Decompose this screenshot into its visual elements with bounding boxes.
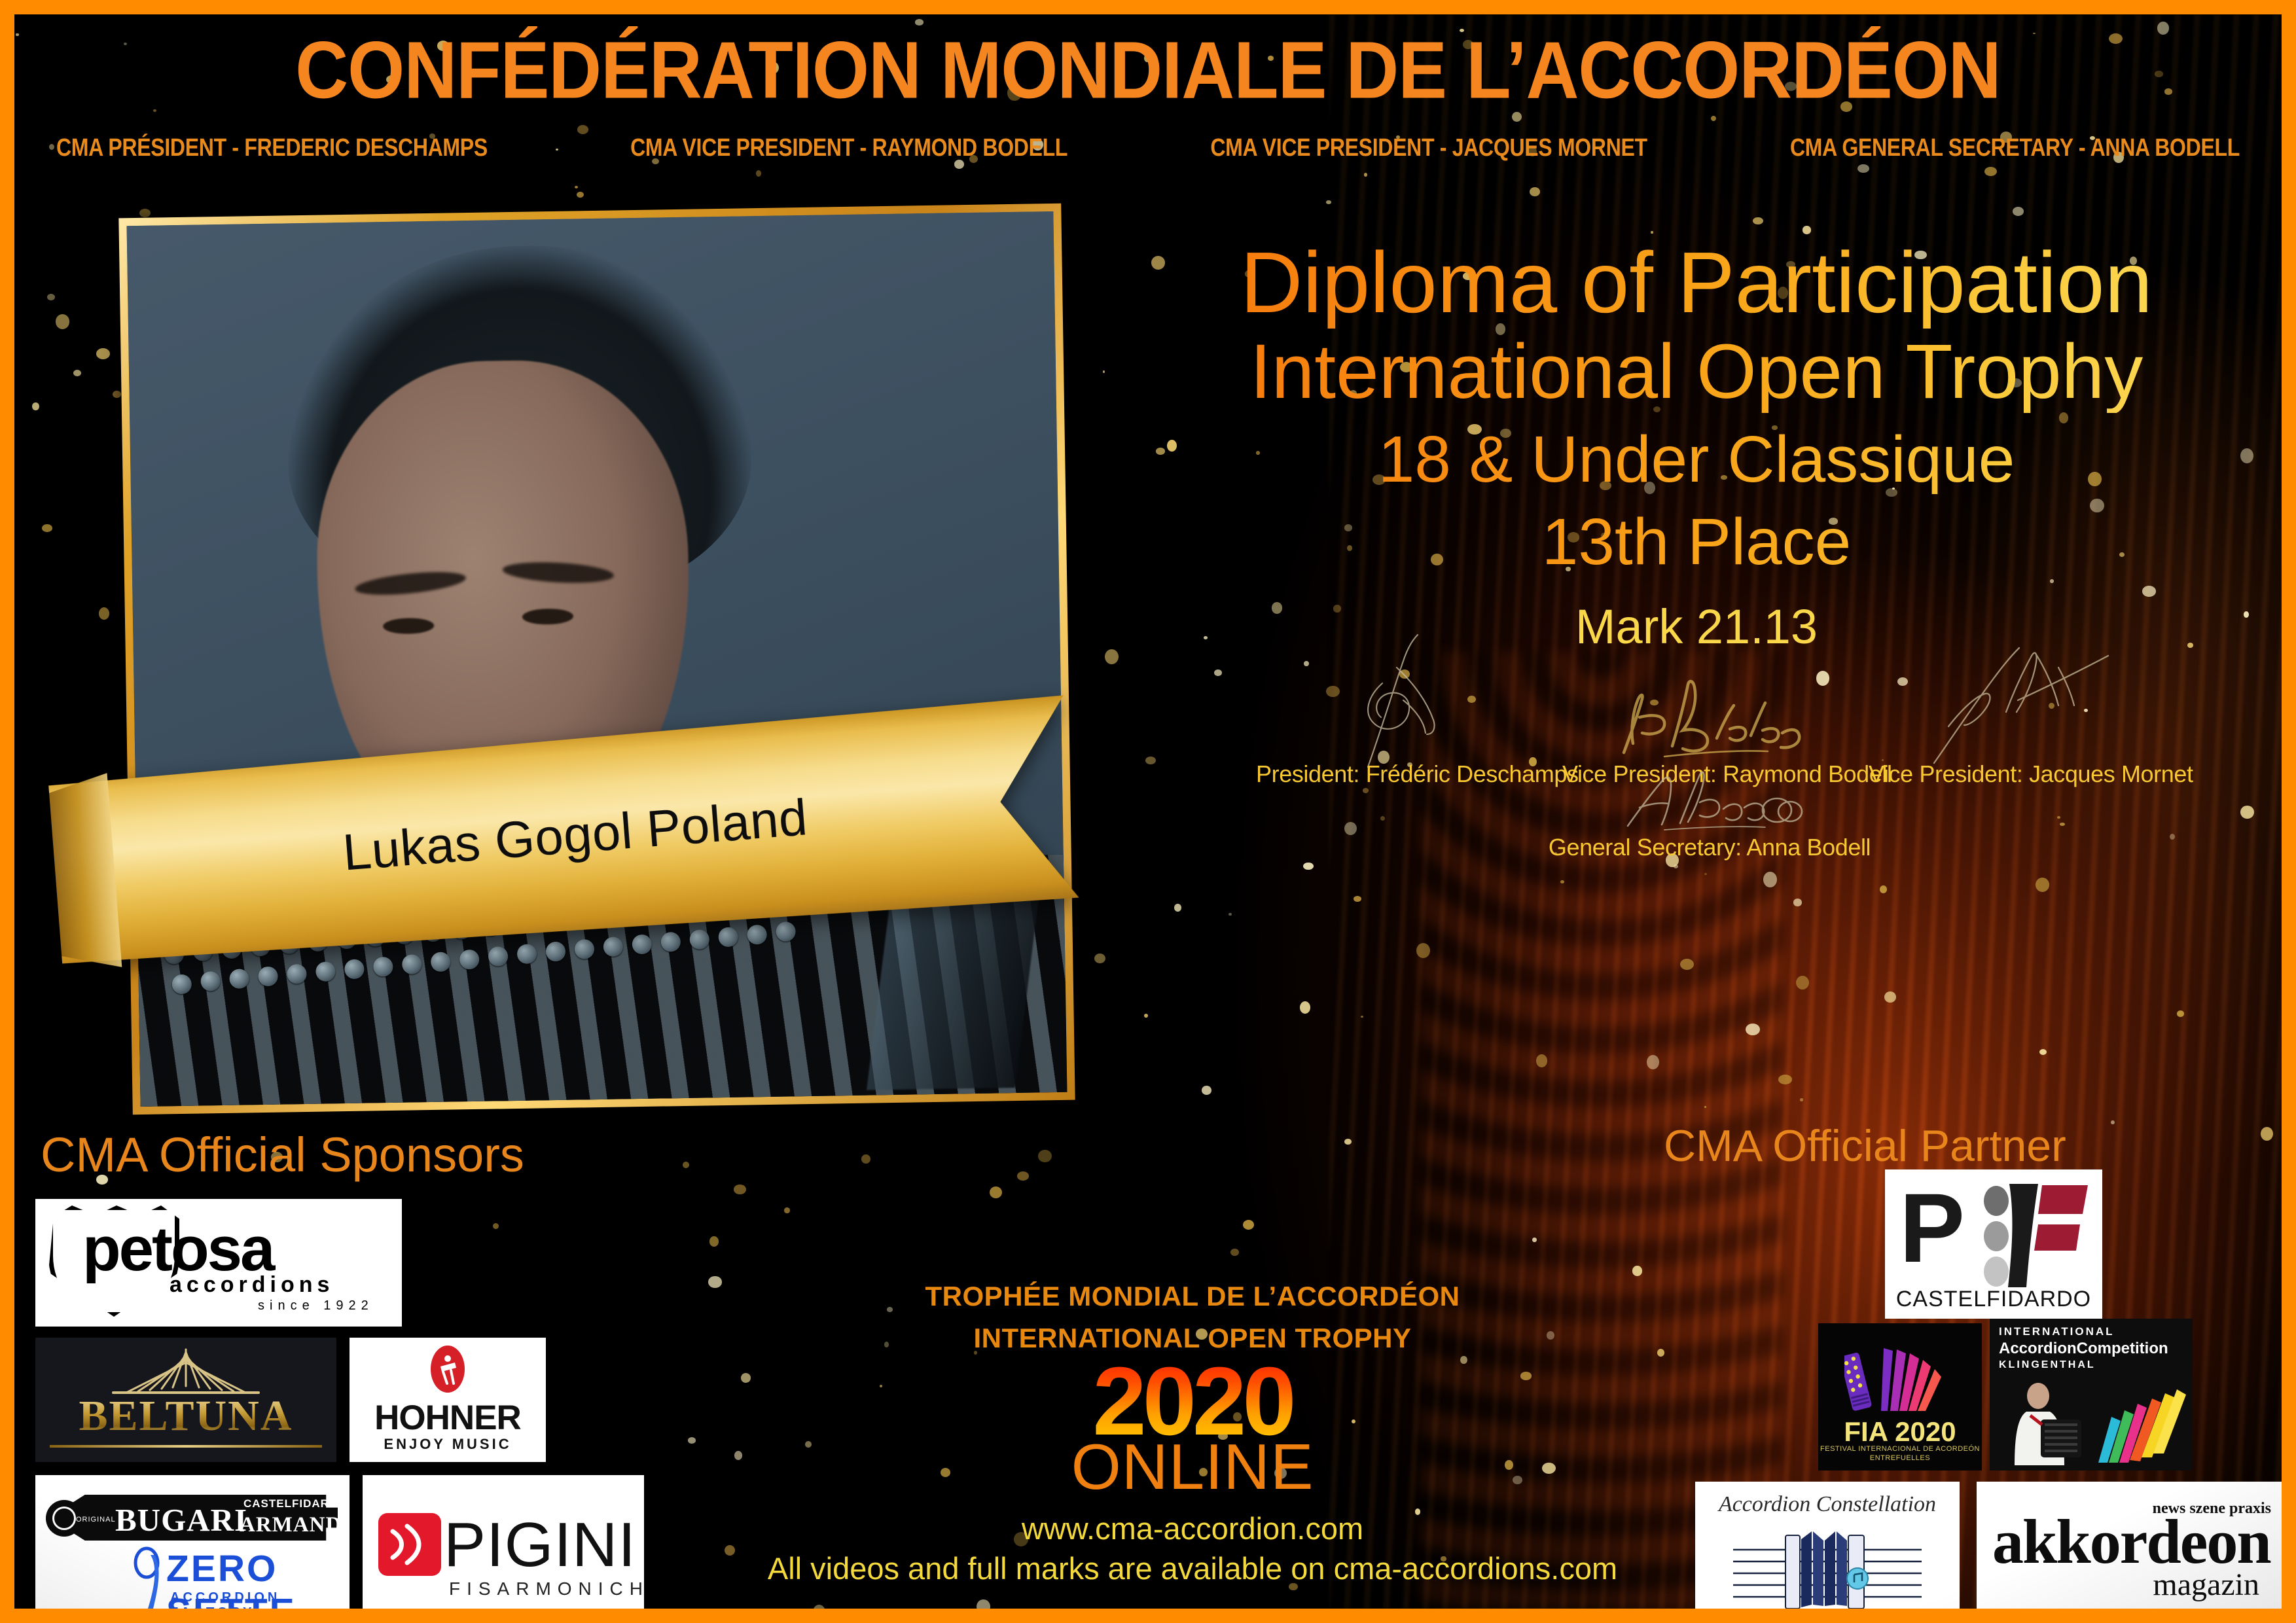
officer-vice-president-1: CMA VICE PRESIDENT - RAYMOND BODELL (628, 134, 1070, 162)
signature-row-secondary: General Secretary: Anna Bodell (1127, 834, 2282, 861)
bugari-original-label: ORIGINAL (76, 1516, 116, 1524)
signature-area: President: Frédéric Deschamps (1127, 760, 2282, 861)
klingenthal-line-2: AccordionCompetition (1999, 1340, 2168, 1358)
bugari-wordmark: BUGARI (115, 1501, 247, 1539)
sponsors-heading: CMA Official Sponsors (41, 1127, 524, 1183)
pif-city: CASTELFIDARDO (1885, 1287, 2102, 1312)
constellation-wordmark: Accordion Constellation (1695, 1492, 1960, 1517)
certificate-canvas: CONFÉDÉRATION MONDIALE DE L’ACCORDÉON CM… (14, 14, 2282, 1609)
akkordeon-subtitle: magazin (2153, 1567, 2259, 1603)
accordion-button (402, 954, 422, 974)
partners-heading: CMA Official Partner (1664, 1120, 2066, 1171)
bugari-circle-inner-icon (52, 1507, 76, 1530)
partner-logo-fia: FIA 2020 FESTIVAL INTERNACIONAL DE ACORD… (1818, 1323, 1982, 1471)
accordion-button (488, 947, 508, 967)
fia-subtitle-2: ENTREFUELLES (1870, 1454, 1930, 1462)
award-line-diploma: Diploma of Participation (1127, 237, 2266, 329)
officer-president: CMA PRÉSIDENT - FREDERIC DESCHAMPS (54, 134, 490, 162)
award-line-place: 13th Place (1127, 507, 2266, 577)
partner-logo-akkordeon-magazin: akkordeon news szene praxis magazin (1977, 1482, 2282, 1609)
signature-block-president: President: Frédéric Deschamps (1256, 760, 1551, 788)
accordion-button (315, 961, 335, 981)
beltuna-rule (50, 1445, 322, 1448)
pigini-tagline: FISARMONICHE (449, 1578, 644, 1599)
signature-block-vice-president-2: Vice President: Jacques Mornet (1869, 760, 2163, 788)
pif-letter-f-icon (2007, 1179, 2090, 1291)
zerosette-mark-icon (131, 1546, 168, 1609)
pigini-wordmark: PIGINI (444, 1509, 636, 1581)
accordion-button (229, 969, 249, 989)
sponsor-logo-beltuna: BELTUNA (35, 1338, 336, 1462)
award-line-trophy: International Open Trophy (1127, 331, 2266, 413)
event-mode: ONLINE (767, 1430, 1618, 1504)
signature-label-vice-president-2: Vice President: Jacques Mornet (1869, 760, 2163, 788)
sponsor-logo-bugari-zerosette: ORIGINAL BUGARI CASTELFIDARDO ARMANDO ZE… (35, 1475, 350, 1609)
akkordeon-tagline: news szene praxis (2153, 1500, 2271, 1518)
bugari-castelfidardo-label: CASTELFIDARDO (243, 1497, 347, 1510)
signature-label-general-secretary: General Secretary: Anna Bodell (1539, 834, 1880, 861)
event-title-fr: TROPHÉE MONDIAL DE L’ACCORDÉON (767, 1281, 1618, 1312)
accordion-button (431, 952, 450, 971)
hohner-wordmark: HOHNER (350, 1398, 546, 1438)
accordion-button (632, 935, 652, 954)
event-info: TROPHÉE MONDIAL DE L’ACCORDÉON INTERNATI… (767, 1281, 1618, 1586)
event-note: All videos and full marks are available … (767, 1550, 1618, 1586)
hohner-figure-icon (437, 1353, 459, 1387)
klingenthal-fan-icon (2092, 1375, 2190, 1467)
accordion-button (459, 949, 479, 969)
constellation-accordion-icon (1729, 1518, 1926, 1609)
partner-logo-klingenthal: INTERNATIONAL AccordionCompetition KLING… (1990, 1319, 2193, 1471)
partner-logo-accordion-constellation: Accordion Constellation (1695, 1482, 1960, 1609)
award-line-category: 18 & Under Classique (1127, 425, 2266, 494)
signature-label-president: President: Frédéric Deschamps (1256, 760, 1551, 788)
accordion-button (373, 957, 393, 976)
partner-logo-pif: P CASTELFIDARDO (1885, 1169, 2102, 1319)
signature-mark-vice-president-2 (1908, 628, 2124, 779)
petosa-subtitle: accordions (170, 1272, 334, 1298)
event-website[interactable]: www.cma-accordion.com (767, 1510, 1618, 1546)
petosa-since: since 1922 (258, 1298, 374, 1313)
accordion-button (603, 937, 623, 957)
accordion-button (661, 932, 681, 952)
hohner-tagline: ENJOY MUSIC (350, 1436, 546, 1453)
sponsor-logo-pigini: PIGINI FISARMONICHE (363, 1475, 644, 1609)
accordion-button (776, 922, 795, 942)
beltuna-wordmark: BELTUNA (35, 1391, 336, 1441)
diploma-certificate: CONFÉDÉRATION MONDIALE DE L’ACCORDÉON CM… (0, 0, 2296, 1623)
participant-photo-frame (118, 204, 1075, 1115)
signature-mark-president (1305, 628, 1501, 779)
sponsor-logo-hohner: HOHNER ENJOY MUSIC (350, 1338, 546, 1462)
accordion-button (287, 964, 306, 984)
fia-fan-icon (1844, 1334, 1956, 1419)
accordion-button (258, 967, 278, 986)
award-details: Diploma of Participation International O… (1127, 237, 2266, 654)
accordion-button (517, 944, 537, 964)
bugari-armando-label: ARMANDO (240, 1513, 350, 1537)
officer-general-secretary: CMA GENERAL SECRETARY - ANNA BODELL (1787, 134, 2242, 162)
klingenthal-player-icon (2001, 1379, 2093, 1465)
pif-letter-p: P (1899, 1179, 1965, 1277)
fia-subtitle-1: FESTIVAL INTERNACIONAL DE ACORDEÓN (1820, 1445, 1980, 1453)
klingenthal-line-1: INTERNATIONAL (1999, 1325, 2115, 1338)
beltuna-rays-icon (104, 1347, 268, 1394)
accordion-button (718, 927, 738, 946)
zerosette-tagline: ACCORDION FACTORY (170, 1590, 350, 1609)
accordion-button (344, 959, 364, 979)
accordion-button (690, 929, 709, 949)
accordion-button (200, 972, 220, 991)
participant-photo (127, 211, 1067, 1107)
officers-list: CMA PRÉSIDENT - FREDERIC DESCHAMPS CMA V… (54, 134, 2242, 162)
klingenthal-line-3: KLINGENTHAL (1999, 1359, 2096, 1371)
accordion-button (546, 942, 565, 961)
signature-block-general-secretary: General Secretary: Anna Bodell (1539, 834, 1880, 861)
accordion-button (171, 974, 191, 993)
officer-vice-president-2: CMA VICE PRESIDENT - JACQUES MORNET (1208, 134, 1650, 162)
sponsor-logo-petosa: petosa accordions since 1922 (35, 1199, 402, 1327)
fia-wordmark: FIA 2020 (1818, 1416, 1982, 1448)
fia-subtitle: FESTIVAL INTERNACIONAL DE ACORDEÓN ENTRE… (1818, 1445, 1982, 1463)
organization-title: CONFÉDÉRATION MONDIALE DE L’ACCORDÉON (14, 24, 2282, 116)
accordion-button (575, 939, 594, 959)
pigini-waves-icon (385, 1522, 433, 1567)
accordion-button (747, 925, 766, 944)
